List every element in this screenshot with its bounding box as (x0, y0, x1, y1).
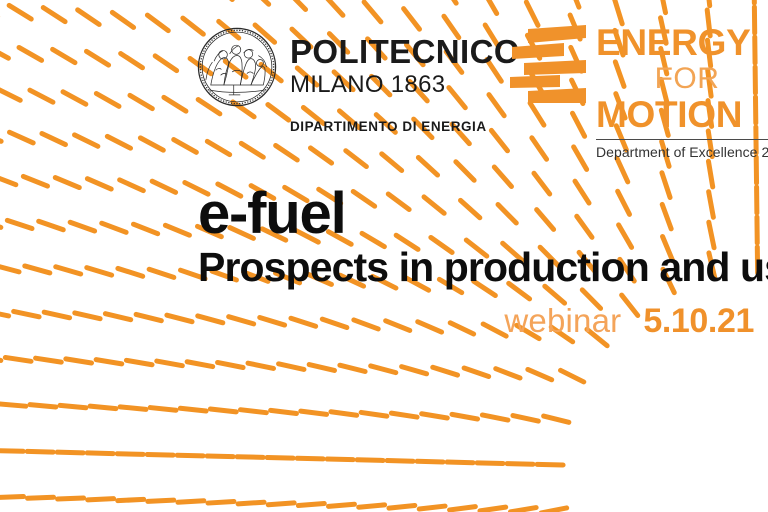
energy-for-motion-top-row: ENERGY FOR MOTION (508, 25, 768, 133)
page-title: e-fuel (198, 186, 758, 242)
politecnico-top-row: POLITECNICO MILANO 1863 (196, 26, 520, 108)
politecnico-name: POLITECNICO (290, 35, 520, 69)
efm-line-energy: ENERGY (596, 25, 768, 61)
poster-canvas: POLITECNICO MILANO 1863 DIPARTIMENTO DI … (0, 0, 768, 512)
event-info-row: webinar 5.10.21 (198, 302, 758, 341)
energy-for-motion-wordmark: ENERGY FOR MOTION (596, 25, 768, 133)
politecnico-department-label: DIPARTIMENTO DI ENERGIA (290, 119, 487, 134)
logo-band: POLITECNICO MILANO 1863 DIPARTIMENTO DI … (0, 0, 768, 160)
efm-divider-rule (596, 139, 768, 140)
event-type-label: webinar (504, 302, 621, 340)
event-date: 5.10.21 (643, 302, 754, 341)
efm-line-motion: MOTION (596, 97, 768, 133)
politecnico-year: MILANO 1863 (290, 71, 520, 99)
efm-line-for: FOR (596, 64, 768, 93)
efm-excellence-subtitle: Department of Excellence 2018-2 (596, 144, 768, 160)
politecnico-seal-icon (196, 26, 278, 108)
energy-for-motion-logo-lockup: ENERGY FOR MOTION Department of Excellen… (508, 25, 768, 160)
title-block: e-fuel Prospects in production and use w… (198, 186, 758, 341)
politecnico-logo-lockup: POLITECNICO MILANO 1863 DIPARTIMENTO DI … (196, 26, 520, 134)
page-subtitle: Prospects in production and use (198, 247, 758, 289)
politecnico-wordmark: POLITECNICO MILANO 1863 (290, 35, 520, 98)
energy-for-motion-bars-icon (508, 25, 586, 105)
